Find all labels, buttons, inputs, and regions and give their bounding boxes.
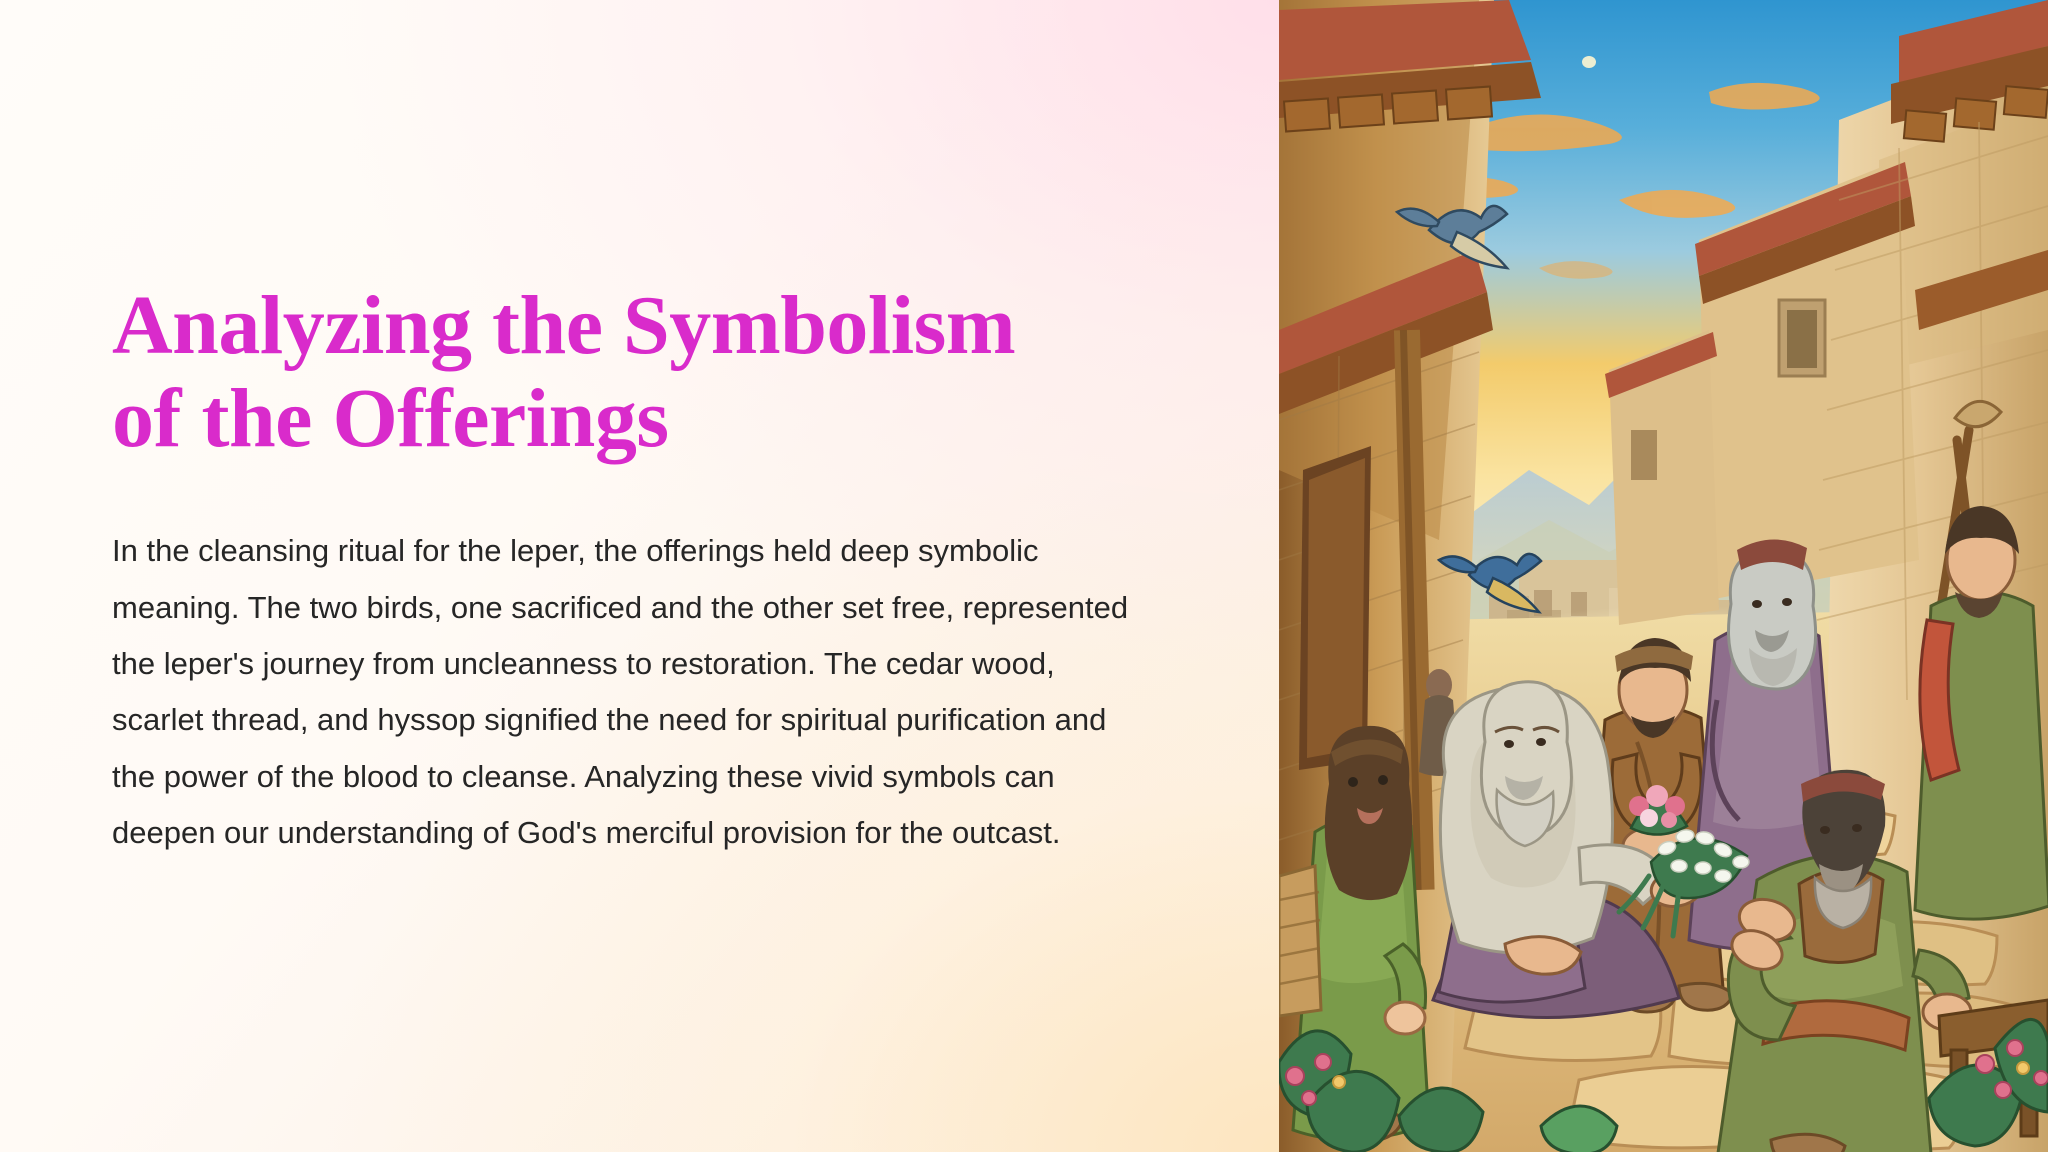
illustration-panel [1279,0,2048,1152]
page-title: Analyzing the Symbolism of the Offerings [112,280,1072,465]
woven-basket [1279,866,1321,1016]
slide-root: Analyzing the Symbolism of the Offerings… [0,0,2048,1152]
text-panel: Analyzing the Symbolism of the Offerings… [0,0,1279,1152]
body-paragraph: In the cleansing ritual for the leper, t… [112,523,1132,861]
village-scene-illustration [1279,0,2048,1152]
sun-speck [1582,56,1596,68]
text-block: Analyzing the Symbolism of the Offerings… [112,280,1132,861]
